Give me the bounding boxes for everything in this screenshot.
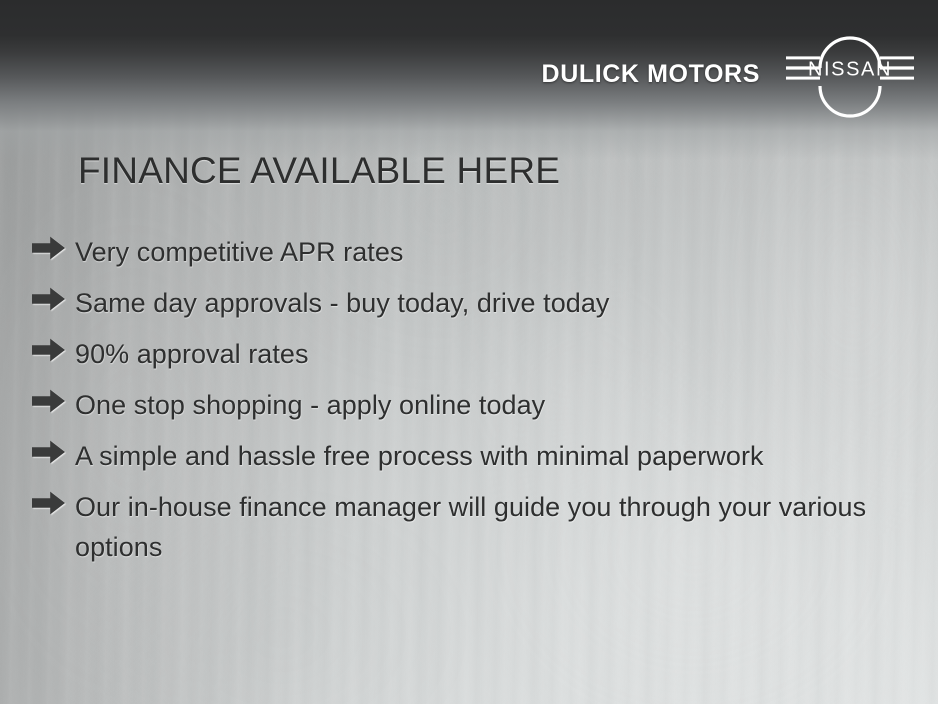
nissan-logo-icon: NISSAN: [784, 18, 916, 118]
right-arrow-icon: [32, 236, 65, 260]
benefits-list: Very competitive APR rates Same day appr…: [0, 227, 938, 567]
list-item: Very competitive APR rates: [32, 227, 938, 278]
finance-slide: DULICK MOTORS: [0, 0, 938, 704]
right-arrow-icon: [32, 491, 65, 515]
right-arrow-icon: [32, 338, 65, 362]
list-item: 90% approval rates: [32, 329, 938, 380]
dealer-name: DULICK MOTORS: [542, 60, 760, 89]
right-arrow-icon: [32, 389, 65, 413]
page-title: FINANCE AVAILABLE HERE: [78, 152, 938, 189]
brand-header: DULICK MOTORS: [0, 0, 938, 130]
right-arrow-icon: [32, 440, 65, 464]
list-item-label: One stop shopping - apply online today: [75, 380, 545, 431]
list-item: Our in-house finance manager will guide …: [32, 482, 938, 567]
list-item-label: A simple and hassle free process with mi…: [75, 431, 764, 482]
list-item: Same day approvals - buy today, drive to…: [32, 278, 938, 329]
list-item-label: Very competitive APR rates: [75, 227, 403, 278]
list-item: One stop shopping - apply online today: [32, 380, 938, 431]
slide-body: FINANCE AVAILABLE HERE Very competitive …: [0, 152, 938, 567]
list-item: A simple and hassle free process with mi…: [32, 431, 938, 482]
list-item-label: 90% approval rates: [75, 329, 309, 380]
list-item-label: Same day approvals - buy today, drive to…: [75, 278, 609, 329]
list-item-label: Our in-house finance manager will guide …: [75, 482, 918, 567]
nissan-wordmark: NISSAN: [808, 59, 892, 81]
right-arrow-icon: [32, 287, 65, 311]
